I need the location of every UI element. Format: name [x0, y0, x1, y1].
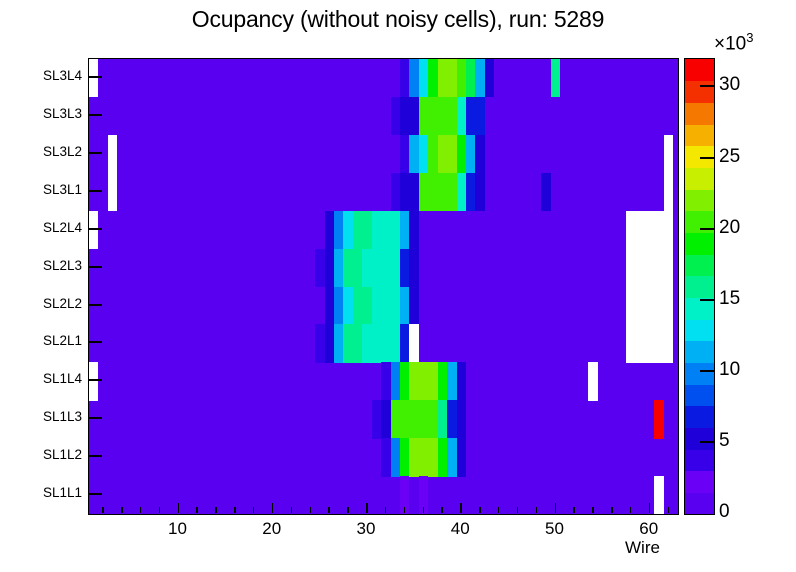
colorbar-gradient — [685, 59, 714, 514]
x-axis-minor-tick — [630, 507, 632, 513]
y-axis-tick — [88, 114, 102, 116]
colorbar-band — [685, 319, 714, 341]
x-axis-major-tick — [366, 503, 368, 513]
x-axis-minor-tick — [328, 507, 330, 513]
colorbar-band — [685, 362, 714, 384]
heatmap-cell[interactable] — [419, 97, 428, 135]
heatmap-cell[interactable] — [391, 438, 400, 476]
heatmap-cell[interactable] — [334, 287, 343, 325]
heatmap-cell[interactable] — [409, 59, 418, 97]
heatmap-cell[interactable] — [457, 59, 466, 97]
heatmap-cell[interactable] — [381, 362, 390, 400]
colorbar-band — [685, 81, 714, 103]
heatmap-cell[interactable] — [457, 362, 466, 400]
x-axis-tick-label: 30 — [341, 519, 391, 539]
heatmap-cell[interactable] — [664, 173, 673, 211]
heatmap-cell[interactable] — [108, 135, 117, 173]
colorbar-band — [685, 189, 714, 211]
heatmap-cell[interactable] — [334, 249, 343, 287]
heatmap-cell[interactable] — [362, 249, 400, 287]
heatmap-cell[interactable] — [419, 59, 428, 97]
x-axis-major-tick — [272, 503, 274, 513]
y-axis-tick — [88, 379, 102, 381]
heatmap-cell[interactable] — [428, 59, 437, 97]
heatmap-cell[interactable] — [400, 324, 409, 362]
x-axis-minor-tick — [385, 507, 387, 513]
heatmap-cell[interactable] — [447, 400, 456, 438]
heatmap-cell[interactable] — [447, 362, 456, 400]
x-axis-minor-tick — [573, 507, 575, 513]
heatmap-cell[interactable] — [400, 135, 409, 173]
x-axis-major-tick — [555, 503, 557, 513]
x-axis-minor-tick — [423, 507, 425, 513]
heatmap-cell[interactable] — [626, 287, 673, 325]
heatmap-cell[interactable] — [400, 59, 409, 97]
heatmap-cell[interactable] — [475, 135, 484, 173]
heatmap-cell[interactable] — [400, 173, 419, 211]
heatmap-cell[interactable] — [315, 324, 324, 362]
heatmap-cell[interactable] — [626, 249, 673, 287]
heatmap-cell[interactable] — [466, 173, 475, 211]
heatmap-cell[interactable] — [400, 97, 419, 135]
heatmap-cell[interactable] — [438, 438, 447, 476]
heatmap-cell[interactable] — [457, 135, 466, 173]
x-axis-major-tick — [178, 503, 180, 513]
heatmap-cell[interactable] — [343, 324, 362, 362]
colorbar-band — [685, 341, 714, 363]
colorbar-band — [685, 102, 714, 124]
heatmap-cell[interactable] — [362, 324, 400, 362]
heatmap-cell[interactable] — [447, 438, 456, 476]
heatmap-cell[interactable] — [438, 362, 447, 400]
colorbar-exponent-label: ×103 — [714, 30, 753, 55]
heatmap-cell[interactable] — [428, 173, 456, 211]
y-axis-label: SL2L1 — [20, 333, 82, 348]
y-axis-tick — [88, 341, 102, 343]
x-axis-minor-tick — [234, 507, 236, 513]
x-axis-minor-tick — [404, 507, 406, 513]
x-axis-minor-tick — [196, 507, 198, 513]
heatmap-cell[interactable] — [654, 400, 663, 438]
heatmap-cell[interactable] — [400, 287, 409, 325]
heatmap-cell[interactable] — [664, 135, 673, 173]
x-axis-tick-label: 50 — [529, 519, 579, 539]
heatmap-cell[interactable] — [353, 211, 372, 249]
x-axis-minor-tick — [102, 507, 104, 513]
x-axis-minor-tick — [121, 507, 123, 513]
heatmap-cell[interactable] — [89, 211, 98, 249]
heatmap-cell[interactable] — [438, 135, 457, 173]
colorbar-tick — [700, 299, 714, 301]
x-axis-minor-tick — [159, 507, 161, 513]
colorbar-band — [685, 427, 714, 449]
colorbar-exponent-power: 3 — [746, 30, 753, 45]
heatmap-cell[interactable] — [466, 97, 475, 135]
heatmap-cell[interactable] — [372, 211, 400, 249]
colorbar-band — [685, 449, 714, 471]
colorbar-band — [685, 276, 714, 298]
heatmap-cell[interactable] — [343, 249, 362, 287]
colorbar-band — [685, 232, 714, 254]
heatmap-cell[interactable] — [654, 476, 663, 514]
heatmap-cell[interactable] — [466, 135, 475, 173]
heatmap-cell[interactable] — [325, 211, 334, 249]
x-axis-minor-tick — [611, 507, 613, 513]
root-canvas: Ocupancy (without noisy cells), run: 528… — [0, 0, 796, 572]
y-axis-tick — [88, 493, 102, 495]
colorbar-band — [685, 471, 714, 493]
colorbar-band — [685, 406, 714, 428]
colorbar-tick-label: 0 — [719, 501, 730, 523]
heatmap-cell[interactable] — [438, 400, 447, 438]
x-axis-tick-label: 10 — [153, 519, 203, 539]
x-axis-minor-tick — [592, 507, 594, 513]
x-axis-major-tick — [460, 503, 462, 513]
x-axis-minor-tick — [536, 507, 538, 513]
x-axis-tick-label: 40 — [435, 519, 485, 539]
colorbar-band — [685, 384, 714, 406]
y-axis-tick — [88, 76, 102, 78]
colorbar[interactable] — [684, 58, 715, 515]
heatmap-cell[interactable] — [325, 324, 334, 362]
colorbar-tick — [700, 157, 714, 159]
x-axis-minor-tick — [479, 507, 481, 513]
heatmap-cell[interactable] — [391, 173, 400, 211]
x-axis-minor-tick — [310, 507, 312, 513]
colorbar-tick-label: 25 — [719, 146, 740, 168]
heatmap-cell[interactable] — [466, 59, 475, 97]
heatmap-cell[interactable] — [409, 211, 418, 249]
heatmap-cell[interactable] — [391, 400, 419, 438]
x-axis-minor-tick — [291, 507, 293, 513]
y-axis-tick — [88, 417, 102, 419]
heatmap-cell[interactable] — [325, 249, 334, 287]
heatmap-cell[interactable] — [334, 211, 343, 249]
colorbar-band — [685, 492, 714, 514]
heatmap-cell[interactable] — [400, 362, 409, 400]
x-axis-minor-tick — [668, 507, 670, 513]
heatmap-cell[interactable] — [89, 362, 98, 400]
x-axis-minor-tick — [140, 507, 142, 513]
colorbar-tick-label: 5 — [719, 430, 730, 452]
y-axis-tick — [88, 455, 102, 457]
heatmap-cell[interactable] — [381, 438, 390, 476]
heatmap-cell[interactable] — [400, 438, 409, 476]
x-axis-minor-tick — [498, 507, 500, 513]
heatmap-cell[interactable] — [353, 287, 372, 325]
heatmap-cells[interactable] — [89, 59, 678, 514]
y-axis-label: SL2L3 — [20, 258, 82, 273]
x-axis-minor-tick — [517, 507, 519, 513]
page-title: Ocupancy (without noisy cells), run: 528… — [0, 6, 796, 33]
x-axis-tick-label: 60 — [624, 519, 674, 539]
heatmap-cell[interactable] — [315, 249, 324, 287]
colorbar-tick-label: 10 — [719, 359, 740, 381]
y-axis-label: SL3L1 — [20, 182, 82, 197]
x-axis-major-tick — [649, 503, 651, 513]
heatmap-cell[interactable] — [381, 400, 390, 438]
colorbar-tick-label: 20 — [719, 217, 740, 239]
heatmap-cell[interactable] — [541, 173, 550, 211]
heatmap-cell[interactable] — [372, 400, 381, 438]
x-axis-minor-tick — [347, 507, 349, 513]
heatmap-cell[interactable] — [409, 362, 437, 400]
x-axis-minor-tick — [253, 507, 255, 513]
heatmap-cell[interactable] — [457, 438, 466, 476]
heatmap-cell[interactable] — [391, 97, 400, 135]
heatmap-cell[interactable] — [334, 324, 343, 362]
heatmap-cell[interactable] — [626, 324, 673, 362]
heatmap-plot-frame[interactable] — [88, 58, 679, 515]
heatmap-cell[interactable] — [457, 400, 466, 438]
y-axis-tick — [88, 190, 102, 192]
heatmap-cell[interactable] — [409, 438, 437, 476]
heatmap-cell[interactable] — [409, 135, 418, 173]
y-axis-label: SL3L2 — [20, 144, 82, 159]
colorbar-band — [685, 124, 714, 146]
heatmap-cell[interactable] — [626, 211, 673, 249]
heatmap-cell[interactable] — [108, 173, 117, 211]
heatmap-cell[interactable] — [343, 211, 352, 249]
y-axis-label: SL1L1 — [20, 485, 82, 500]
y-axis-label: SL1L4 — [20, 371, 82, 386]
colorbar-tick — [700, 228, 714, 230]
heatmap-cell[interactable] — [325, 287, 334, 325]
y-axis-label: SL3L3 — [20, 106, 82, 121]
heatmap-cell[interactable] — [457, 173, 466, 211]
heatmap-cell[interactable] — [588, 362, 597, 400]
heatmap-cell[interactable] — [438, 59, 457, 97]
heatmap-cell[interactable] — [475, 97, 484, 135]
colorbar-tick-label: 30 — [719, 74, 740, 96]
heatmap-cell[interactable] — [400, 249, 409, 287]
heatmap-cell[interactable] — [419, 400, 438, 438]
colorbar-tick — [700, 370, 714, 372]
heatmap-cell[interactable] — [343, 287, 352, 325]
x-axis-tick-label: 20 — [247, 519, 297, 539]
heatmap-cell[interactable] — [419, 135, 428, 173]
heatmap-cell[interactable] — [475, 173, 484, 211]
colorbar-tick — [700, 85, 714, 87]
heatmap-cell[interactable] — [475, 59, 484, 97]
heatmap-cell[interactable] — [551, 59, 560, 97]
y-axis-tick — [88, 152, 102, 154]
heatmap-cell[interactable] — [372, 287, 400, 325]
heatmap-cell[interactable] — [409, 324, 418, 362]
heatmap-cell[interactable] — [457, 97, 466, 135]
colorbar-band — [685, 59, 714, 81]
heatmap-cell[interactable] — [409, 287, 418, 325]
y-axis-label: SL1L2 — [20, 447, 82, 462]
x-axis-minor-tick — [441, 507, 443, 513]
colorbar-band — [685, 167, 714, 189]
y-axis-tick — [88, 304, 102, 306]
heatmap-cell[interactable] — [400, 211, 409, 249]
y-axis-tick — [88, 228, 102, 230]
heatmap-cell[interactable] — [409, 249, 418, 287]
heatmap-cell[interactable] — [485, 59, 494, 97]
heatmap-cell[interactable] — [391, 362, 400, 400]
y-axis-tick — [88, 266, 102, 268]
x-axis-title: Wire — [625, 538, 660, 558]
heatmap-cell[interactable] — [428, 97, 456, 135]
colorbar-tick-label: 15 — [719, 288, 740, 310]
colorbar-tick — [700, 441, 714, 443]
y-axis-label: SL2L4 — [20, 220, 82, 235]
heatmap-cell[interactable] — [89, 59, 98, 97]
y-axis-label: SL1L3 — [20, 409, 82, 424]
y-axis-label: SL3L4 — [20, 68, 82, 83]
x-axis-minor-tick — [215, 507, 217, 513]
heatmap-cell[interactable] — [419, 173, 428, 211]
colorbar-exponent-base: ×10 — [714, 33, 746, 54]
heatmap-cell[interactable] — [428, 135, 437, 173]
y-axis-label: SL2L2 — [20, 296, 82, 311]
colorbar-band — [685, 254, 714, 276]
